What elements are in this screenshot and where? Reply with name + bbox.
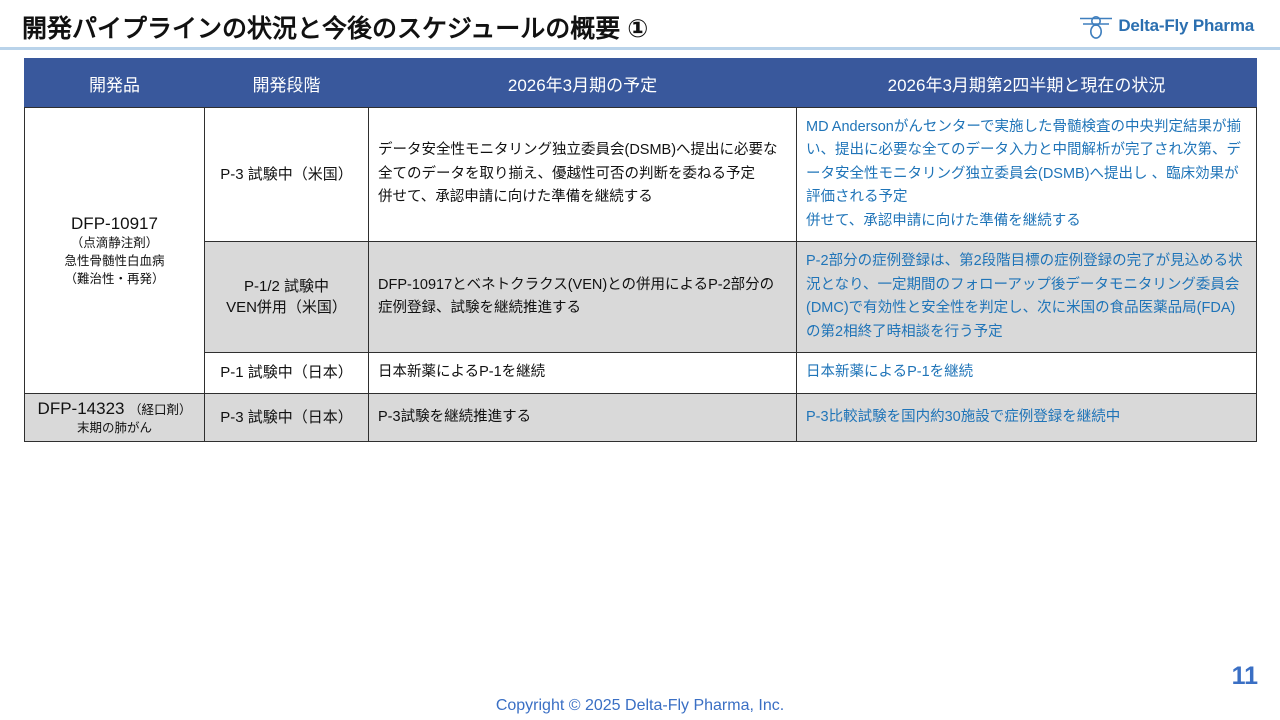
column-header-plan: 2026年3月期の予定 — [369, 59, 797, 108]
status-paragraph: P-2部分の症例登録は、第2段階目標の症例登録の完了が見込める状況となり、一定期… — [806, 250, 1247, 344]
company-logo: Delta-Fly Pharma — [1079, 12, 1254, 40]
status-cell: P-2部分の症例登録は、第2段階目標の症例登録の完了が見込める状況となり、一定期… — [797, 242, 1257, 353]
stage-line-2: VEN併用（米国） — [209, 297, 364, 319]
stage-cell: P-1 試験中（日本） — [205, 353, 369, 393]
plan-cell: DFP-10917とベネトクラクス(VEN)との併用によるP-2部分の症例登録、… — [369, 242, 797, 353]
plan-paragraph: データ安全性モニタリング独立委員会(DSMB)へ提出に必要な全てのデータを取り揃… — [378, 139, 787, 186]
plan-cell: 日本新薬によるP-1を継続 — [369, 353, 797, 393]
column-header-stage: 開発段階 — [205, 59, 369, 108]
product-cell-dfp-14323: DFP-14323 （経口剤） 末期の肺がん — [25, 393, 205, 441]
plan-cell: P-3試験を継続推進する — [369, 393, 797, 441]
plan-paragraph: DFP-10917とベネトクラクス(VEN)との併用によるP-2部分の症例登録、… — [378, 274, 787, 321]
status-cell: P-3比較試験を国内約30施設で症例登録を継続中 — [797, 393, 1257, 441]
table-row: DFP-10917 （点滴静注剤） 急性骨髄性白血病 （難治性・再発） P-3 … — [25, 108, 1257, 242]
product-cell-dfp-10917: DFP-10917 （点滴静注剤） 急性骨髄性白血病 （難治性・再発） — [25, 108, 205, 394]
slide-header: 開発パイプラインの状況と今後のスケジュールの概要 ① Delta-Fly Pha… — [0, 0, 1280, 50]
plan-paragraph: 日本新薬によるP-1を継続 — [378, 361, 787, 384]
stage-cell: P-3 試験中（日本） — [205, 393, 369, 441]
table-body: DFP-10917 （点滴静注剤） 急性骨髄性白血病 （難治性・再発） P-3 … — [25, 108, 1257, 442]
page-title: 開発パイプラインの状況と今後のスケジュールの概要 ① — [22, 9, 648, 45]
stage-line-1: P-3 試験中（日本） — [209, 407, 364, 429]
table-header-row: 開発品 開発段階 2026年3月期の予定 2026年3月期第2四半期と現在の状況 — [25, 59, 1257, 108]
status-cell: MD Andersonがんセンターで実施した骨髄検査の中央判定結果が揃い、提出に… — [797, 108, 1257, 242]
product-indication: 急性骨髄性白血病 — [64, 254, 164, 268]
status-paragraph: 日本新薬によるP-1を継続 — [806, 361, 1247, 384]
plan-cell: データ安全性モニタリング独立委員会(DSMB)へ提出に必要な全てのデータを取り揃… — [369, 108, 797, 242]
status-paragraph: MD Andersonがんセンターで実施した骨髄検査の中央判定結果が揃い、提出に… — [806, 116, 1247, 210]
stage-line-1: P-1/2 試験中 — [209, 276, 364, 298]
product-code: DFP-10917 — [71, 214, 158, 233]
status-cell: 日本新薬によるP-1を継続 — [797, 353, 1257, 393]
stage-cell: P-3 試験中（米国） — [205, 108, 369, 242]
status-paragraph: P-3比較試験を国内約30施設で症例登録を継続中 — [806, 406, 1247, 429]
product-form: （点滴静注剤） — [71, 236, 159, 250]
pipeline-table: 開発品 開発段階 2026年3月期の予定 2026年3月期第2四半期と現在の状況… — [24, 58, 1257, 442]
stage-cell: P-1/2 試験中 VEN併用（米国） — [205, 242, 369, 353]
column-header-product: 開発品 — [25, 59, 205, 108]
product-indication: 末期の肺がん — [77, 421, 152, 435]
status-paragraph: 併せて、承認申請に向けた準備を継続する — [806, 210, 1247, 233]
plan-paragraph: P-3試験を継続推進する — [378, 406, 787, 429]
page-number: 11 — [1232, 662, 1258, 691]
product-form: （経口剤） — [129, 403, 192, 417]
column-header-status: 2026年3月期第2四半期と現在の状況 — [797, 59, 1257, 108]
copyright-notice: Copyright © 2025 Delta-Fly Pharma, Inc. — [0, 697, 1280, 715]
dragonfly-icon — [1079, 12, 1113, 40]
table-header: 開発品 開発段階 2026年3月期の予定 2026年3月期第2四半期と現在の状況 — [25, 59, 1257, 108]
plan-paragraph: 併せて、承認申請に向けた準備を継続する — [378, 186, 787, 209]
header-divider — [0, 47, 1280, 50]
table-row: P-1 試験中（日本） 日本新薬によるP-1を継続 日本新薬によるP-1を継続 — [25, 353, 1257, 393]
table-row: DFP-14323 （経口剤） 末期の肺がん P-3 試験中（日本） P-3試験… — [25, 393, 1257, 441]
stage-line-1: P-3 試験中（米国） — [209, 164, 364, 186]
product-code: DFP-14323 — [38, 399, 125, 418]
product-indication-note: （難治性・再発） — [64, 272, 164, 286]
stage-line-1: P-1 試験中（日本） — [209, 362, 364, 384]
table-row: P-1/2 試験中 VEN併用（米国） DFP-10917とベネトクラクス(VE… — [25, 242, 1257, 353]
logo-text: Delta-Fly Pharma — [1118, 16, 1254, 36]
